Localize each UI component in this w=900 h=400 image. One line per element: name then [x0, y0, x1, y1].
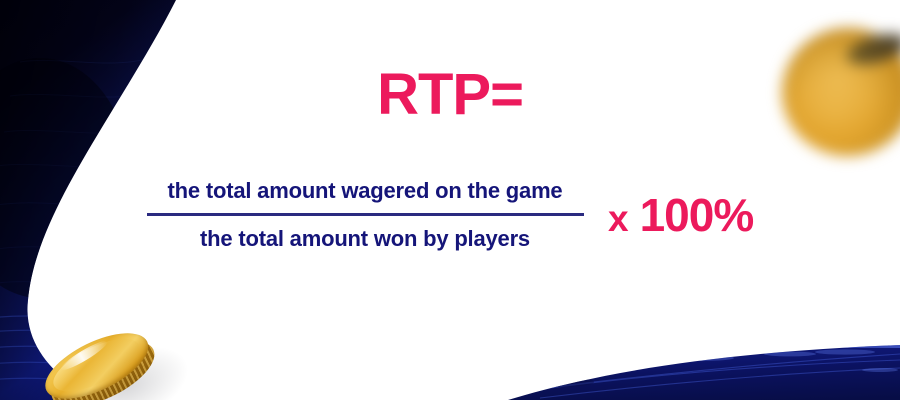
multiplication-sign: x — [608, 198, 628, 240]
fraction: the total amount wagered on the game the… — [140, 178, 590, 252]
formula-content: RTP= the total amount wagered on the gam… — [0, 0, 900, 400]
rtp-formula-graphic: RTP= the total amount wagered on the gam… — [0, 0, 900, 400]
fraction-numerator: the total amount wagered on the game — [168, 178, 563, 213]
multiplier-value: 100% — [640, 188, 754, 242]
formula-row: the total amount wagered on the game the… — [140, 178, 840, 252]
multiplier: x 100% — [608, 188, 753, 242]
fraction-denominator: the total amount won by players — [200, 216, 530, 252]
rtp-heading: RTP= — [0, 66, 900, 124]
